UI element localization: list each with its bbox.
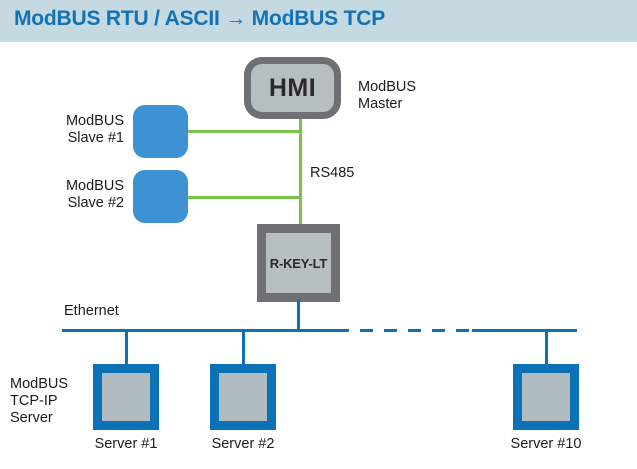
ethernet-bus-label: Ethernet bbox=[64, 303, 119, 320]
ethernet-downlink-server-1 bbox=[125, 329, 128, 365]
hmi-device: HMI bbox=[244, 57, 341, 119]
diagram-canvas: ModBUS RTU / ASCII → ModBUS TCP HMI ModB… bbox=[0, 0, 637, 469]
ethernet-bus-dashed-segment bbox=[336, 329, 476, 332]
server-10-caption: Server #10 bbox=[503, 436, 589, 452]
ethernet-bus-left-segment bbox=[62, 329, 336, 332]
server-10-device bbox=[513, 364, 579, 430]
modbus-slave-1-label: ModBUS Slave #1 bbox=[24, 113, 124, 147]
rs485-branch-slave-2 bbox=[186, 196, 301, 199]
server-1-caption: Server #1 bbox=[86, 436, 166, 452]
ethernet-uplink-line bbox=[297, 300, 300, 331]
modbus-slave-1-device bbox=[133, 105, 188, 158]
hmi-label: HMI bbox=[251, 64, 334, 112]
modbus-slave-2-label: ModBUS Slave #2 bbox=[24, 178, 124, 212]
rs485-branch-slave-1 bbox=[186, 130, 301, 133]
rs485-bus-label: RS485 bbox=[310, 165, 354, 182]
ethernet-downlink-server-10 bbox=[545, 329, 548, 365]
r-key-lt-label: R-KEY-LT bbox=[266, 233, 331, 293]
r-key-lt-gateway: R-KEY-LT bbox=[257, 224, 340, 302]
modbus-slave-2-device bbox=[133, 170, 188, 223]
server-2-caption: Server #2 bbox=[203, 436, 283, 452]
server-2-device bbox=[210, 364, 276, 430]
modbus-master-label: ModBUS Master bbox=[358, 79, 416, 113]
modbus-tcp-ip-server-group-label: ModBUS TCP-IP Server bbox=[10, 376, 68, 427]
page-title: ModBUS RTU / ASCII → ModBUS TCP bbox=[14, 7, 385, 31]
ethernet-bus-right-segment bbox=[472, 329, 577, 332]
rs485-trunk-line bbox=[299, 117, 302, 227]
server-1-device bbox=[93, 364, 159, 430]
ethernet-downlink-server-2 bbox=[242, 329, 245, 365]
